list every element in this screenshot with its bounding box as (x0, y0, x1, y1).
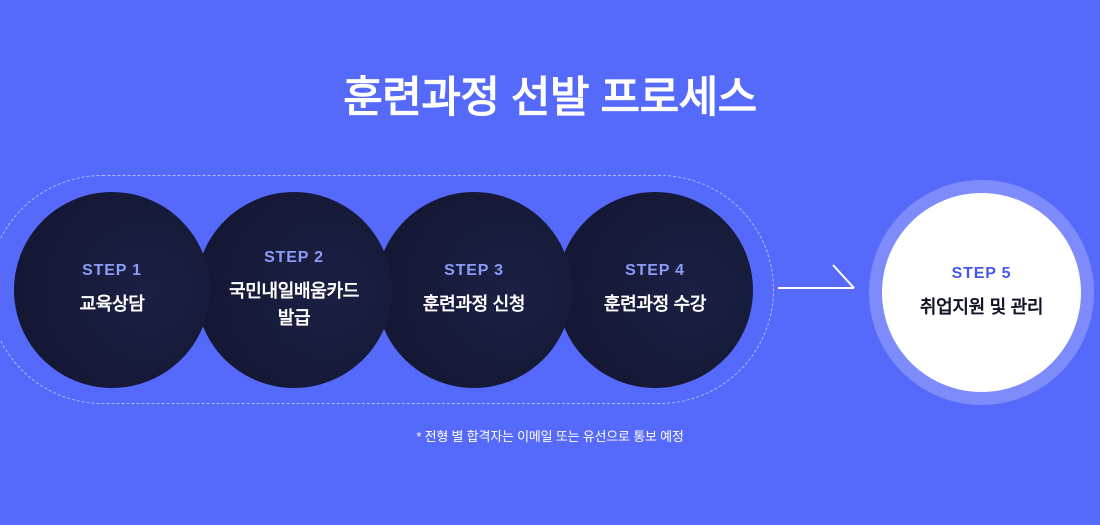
step-1-title: 교육상담 (79, 291, 144, 317)
step-3-label: STEP 3 (444, 262, 504, 280)
page-title: 훈련과정 선발 프로세스 (0, 74, 1100, 123)
step-circle-3[interactable]: STEP 3 훈련과정 신청 (376, 192, 572, 388)
step-circle-4[interactable]: STEP 4 훈련과정 수강 (557, 192, 753, 388)
step-circle-2[interactable]: STEP 2 국민내일배움카드 발급 (196, 192, 392, 388)
arrow-right-icon (776, 258, 860, 294)
step-3-title: 훈련과정 신청 (423, 291, 525, 317)
step-5-label: STEP 5 (952, 265, 1012, 283)
footnote-text: * 전형 별 합격자는 이메일 또는 유선으로 통보 예정 (0, 426, 1100, 445)
process-diagram: 훈련과정 선발 프로세스 STEP 1 교육상담 STEP 2 국민내일배움카드… (0, 0, 1100, 525)
step-circle-1[interactable]: STEP 1 교육상담 (14, 192, 210, 388)
step-circle-5[interactable]: STEP 5 취업지원 및 관리 (882, 193, 1081, 392)
step-4-label: STEP 4 (625, 262, 685, 280)
step-2-title: 국민내일배움카드 발급 (229, 278, 359, 330)
step-1-label: STEP 1 (82, 262, 142, 280)
step-5-title: 취업지원 및 관리 (920, 294, 1043, 320)
step-4-title: 훈련과정 수강 (604, 291, 706, 317)
step-2-label: STEP 2 (264, 249, 324, 267)
